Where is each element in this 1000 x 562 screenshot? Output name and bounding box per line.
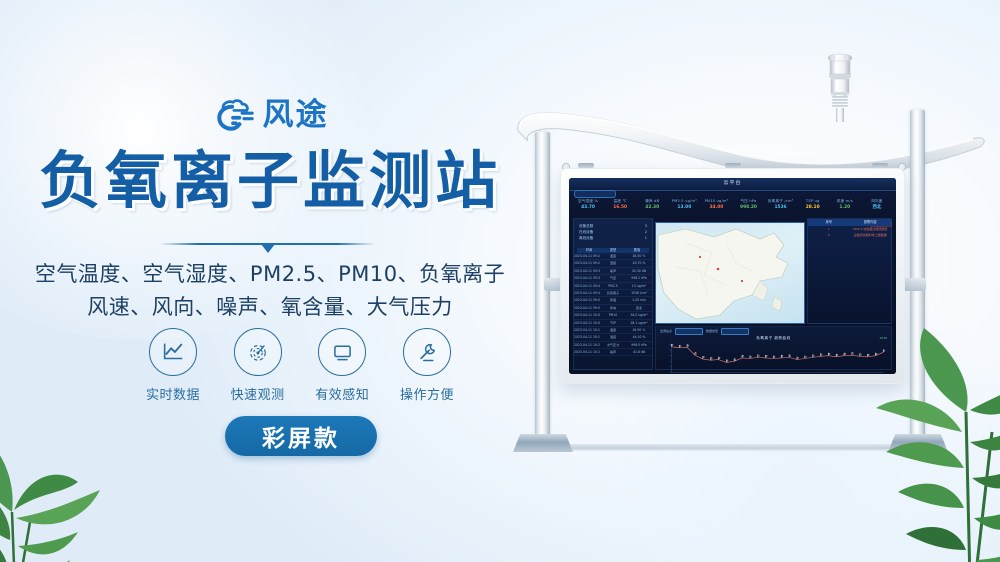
table-cell: 风速 xyxy=(600,297,626,303)
table-cell: 16.50 ℃ xyxy=(626,253,652,259)
color-screen-model-button[interactable]: 彩屏款 xyxy=(225,416,377,456)
kpi-item: PM2.5 ug/m³13.00 xyxy=(668,198,700,214)
table-row[interactable]: 2023-04-11 10:25噪声41.8 dB xyxy=(574,349,652,356)
page-title: 负氧离子监测站 xyxy=(0,148,540,215)
table-row[interactable]: 2023-04-11 10:05TSP28.1 ug/m³ xyxy=(574,320,652,327)
kpi-item: PM10 ug/m³34.00 xyxy=(700,198,732,214)
table-cell: 温度 xyxy=(600,253,626,259)
plant-left xyxy=(0,362,190,562)
table-row[interactable]: 2023-04-11 09:20温度16.50 ℃ xyxy=(574,253,652,260)
radar-scan-icon xyxy=(234,328,282,376)
table-cell: PM2.5 xyxy=(600,283,626,289)
cta-label: 彩屏款 xyxy=(262,419,340,453)
kpi-item: 温度 ℃16.50 xyxy=(604,198,636,214)
chart-selector1-label: 监测站点 xyxy=(660,329,672,333)
brand-lockup: 风途 xyxy=(0,98,540,132)
alarm-row[interactable]: 2设备离线超时未上报数据 xyxy=(808,232,891,238)
table-cell: PM10 xyxy=(600,312,626,318)
kpi-item: 风速 m/s1.20 xyxy=(829,198,861,214)
base-plate-left xyxy=(513,434,573,452)
history-table-body[interactable]: 2023-04-11 09:20温度16.50 ℃2023-04-11 09:2… xyxy=(574,253,652,356)
table-cell: 大气压力 xyxy=(600,342,626,348)
stat-label: 离线设备 xyxy=(579,235,593,241)
table-cell: 2023-04-11 09:30 xyxy=(574,268,600,274)
promo-poster: 风途 负氧离子监测站 空气温度、空气湿度、PM2.5、PM10、负氧离子 风速、… xyxy=(0,0,1000,562)
kpi-item: 负氧离子 /cm³1536 xyxy=(765,198,797,214)
table-cell: 1536 /cm³ xyxy=(626,290,652,296)
table-cell: 风向 xyxy=(600,305,626,311)
device-stat-row: 离线设备1 xyxy=(579,235,647,241)
feature-label: 操作方便 xyxy=(394,384,460,403)
table-row[interactable]: 2023-04-11 09:30噪声42.30 dB xyxy=(574,268,652,275)
table-cell: 1.20 m/s xyxy=(626,297,652,303)
table-row[interactable]: 2023-04-11 10:15湿度44.10 % xyxy=(574,334,652,341)
kpi-item: TSP ug28.10 xyxy=(797,198,829,214)
alarm-panel-header: 序号报警内容 xyxy=(808,219,891,226)
table-cell: 温度 xyxy=(600,327,626,333)
kpi-value: 998.20 xyxy=(732,204,764,211)
stat-value: 1 xyxy=(645,235,647,241)
monitor-display-icon xyxy=(318,328,366,376)
kpi-value: 43.70 xyxy=(572,204,604,211)
left-data-panel: 设备总数3在线设备2离线设备1 时间类型数值 2023-04-11 09:20温… xyxy=(573,218,653,370)
table-cell: 负氧离子 xyxy=(600,290,626,296)
alarm-panel-body[interactable]: 1PM2.5 浓度超过阈值报警2设备离线超时未上报数据 xyxy=(808,226,891,238)
table-cell: 2023-04-11 09:20 xyxy=(574,253,600,259)
table-row[interactable]: 2023-04-11 09:35气压998.2 hPa xyxy=(574,275,652,282)
table-row[interactable]: 2023-04-11 09:40PM2.513 ug/m³ xyxy=(574,283,652,290)
feature-item-fast-observation[interactable]: 快速观测 xyxy=(225,328,291,403)
kpi-item: 空气湿度 %43.70 xyxy=(572,198,604,214)
table-cell: 44.10 % xyxy=(626,334,652,340)
feature-label: 快速观测 xyxy=(225,384,291,403)
table-cell: 湿度 xyxy=(600,334,626,340)
table-cell: 998.0 hPa xyxy=(626,342,652,348)
kpi-value: 28.10 xyxy=(797,204,829,211)
table-row[interactable]: 2023-04-11 10:00PM1034.0 ug/m³ xyxy=(574,312,652,319)
table-cell: 湿度 xyxy=(600,260,626,266)
table-cell: 西北 xyxy=(626,305,652,311)
feature-item-effective-sensing[interactable]: 有效感知 xyxy=(309,328,375,403)
feature-label: 有效感知 xyxy=(309,384,375,403)
table-cell: 2023-04-11 10:05 xyxy=(574,320,600,326)
subtitle-line-1: 空气温度、空气湿度、PM2.5、PM10、负氧离子 xyxy=(0,258,540,291)
ultrasonic-weather-sensor-icon xyxy=(822,52,858,122)
table-cell: 43.70 % xyxy=(626,260,652,266)
table-cell: 41.8 dB xyxy=(626,349,652,355)
chart-selector1[interactable] xyxy=(675,328,703,335)
table-cell: 2023-04-11 10:00 xyxy=(574,312,600,318)
table-cell: 2023-04-11 09:25 xyxy=(574,260,600,266)
kpi-item: 噪声 dB42.30 xyxy=(636,198,668,214)
table-cell: 42.30 dB xyxy=(626,268,652,274)
brand-name: 风途 xyxy=(263,100,329,131)
kpi-value: 1536 xyxy=(765,204,797,211)
station-selector[interactable] xyxy=(574,190,616,198)
table-row[interactable]: 2023-04-11 09:45负氧离子1536 /cm³ xyxy=(574,290,652,297)
plant-right xyxy=(820,282,1000,562)
wind-cloud-logo-icon xyxy=(212,98,254,132)
table-cell: 2023-04-11 09:45 xyxy=(574,290,600,296)
device-stats: 设备总数3在线设备2离线设备1 xyxy=(574,219,652,245)
table-cell: 气压 xyxy=(600,275,626,281)
table-cell: 2023-04-11 09:50 xyxy=(574,297,600,303)
table-cell: 998.2 hPa xyxy=(626,275,652,281)
kpi-value: 34.00 xyxy=(700,204,732,211)
table-cell: 噪声 xyxy=(600,268,626,274)
chart-selector2-label: 数据类型 xyxy=(706,329,718,333)
table-cell: 2023-04-11 09:55 xyxy=(574,305,600,311)
table-cell: 2023-04-11 10:15 xyxy=(574,334,600,340)
feature-item-easy-operation[interactable]: 操作方便 xyxy=(394,328,460,403)
table-cell: 2023-04-11 09:40 xyxy=(574,283,600,289)
kpi-item: 风向度西北 xyxy=(861,198,893,214)
wrench-tool-icon xyxy=(403,328,451,376)
table-cell: 28.1 ug/m³ xyxy=(626,320,652,326)
table-cell: 2023-04-11 10:10 xyxy=(574,327,600,333)
table-cell: 2023-04-11 10:20 xyxy=(574,342,600,348)
dashboard-title: 云平台 xyxy=(569,179,896,186)
table-cell: TSP xyxy=(600,320,626,326)
alarm-cell: 2 xyxy=(808,232,850,238)
kpi-value: 13.00 xyxy=(668,204,700,211)
table-cell: 噪声 xyxy=(600,349,626,355)
kpi-value: 西北 xyxy=(861,204,893,211)
alarm-cell: 设备离线超时未上报数据 xyxy=(850,232,892,238)
china-map[interactable] xyxy=(655,222,805,324)
table-cell: 2023-04-11 09:35 xyxy=(574,275,600,281)
table-row[interactable]: 2023-04-11 09:25湿度43.70 % xyxy=(574,260,652,267)
chart-selector2[interactable] xyxy=(721,328,749,335)
kpi-value: 42.30 xyxy=(636,204,668,211)
alarm-column-header: 报警内容 xyxy=(850,219,892,226)
kpi-value: 1.20 xyxy=(829,204,861,211)
divider-triangle-icon xyxy=(261,244,275,253)
table-cell: 16.90 ℃ xyxy=(626,327,652,333)
table-row[interactable]: 2023-04-11 10:20大气压力998.0 hPa xyxy=(574,342,652,349)
table-row[interactable]: 2023-04-11 10:10温度16.90 ℃ xyxy=(574,327,652,334)
subtitle-line-2: 风速、风向、噪声、氧含量、大气压力 xyxy=(0,291,540,324)
kpi-item: 气压 hPa998.20 xyxy=(732,198,764,214)
table-cell: 2023-04-11 10:25 xyxy=(574,349,600,355)
table-row[interactable]: 2023-04-11 09:50风速1.20 m/s xyxy=(574,297,652,304)
subtitle: 空气温度、空气湿度、PM2.5、PM10、负氧离子 风速、风向、噪声、氧含量、大… xyxy=(0,258,540,323)
divider xyxy=(160,240,375,254)
table-row[interactable]: 2023-04-11 09:55风向西北 xyxy=(574,305,652,312)
kpi-row: 空气湿度 %43.70温度 ℃16.50噪声 dB42.30PM2.5 ug/m… xyxy=(572,198,893,214)
kpi-value: 16.50 xyxy=(604,204,636,211)
table-cell: 13 ug/m³ xyxy=(626,283,652,289)
alarm-column-header: 序号 xyxy=(808,219,850,226)
table-cell: 34.0 ug/m³ xyxy=(626,312,652,318)
